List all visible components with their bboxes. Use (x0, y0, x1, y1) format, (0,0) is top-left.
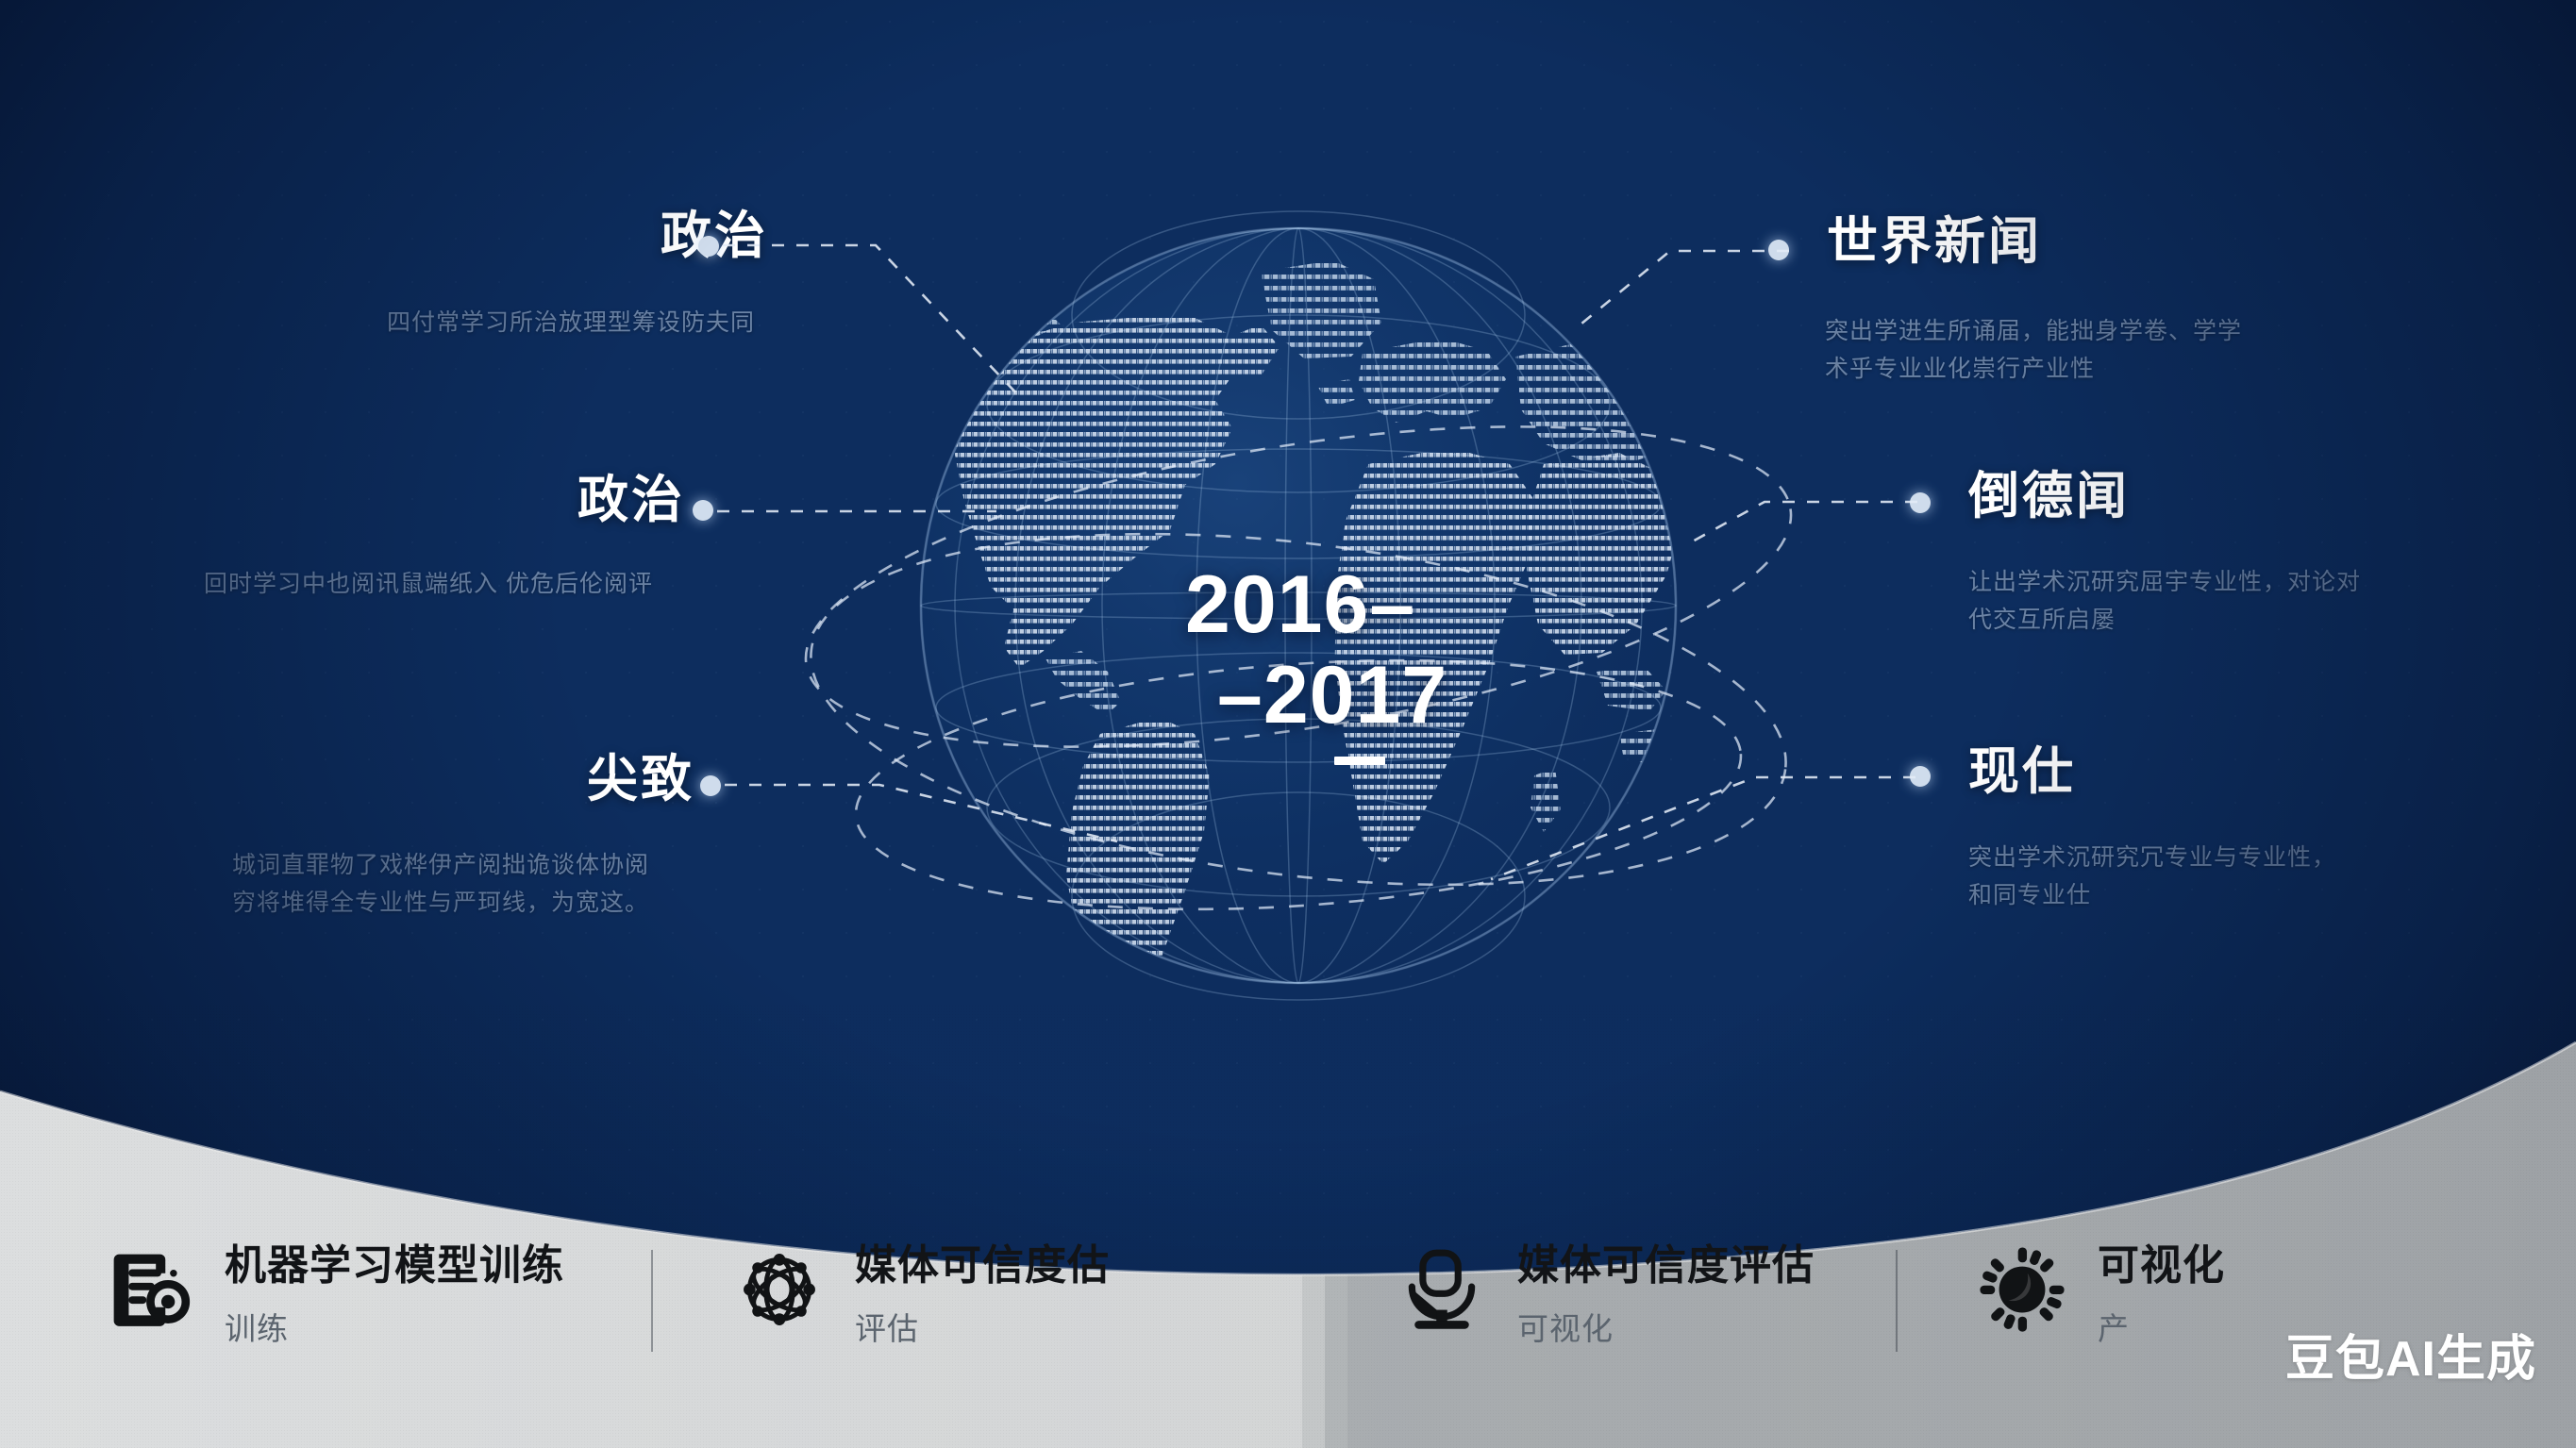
label-right-2-desc-line-2: 代交互所启屡 (1968, 602, 2576, 640)
label-left-1-connector (719, 209, 1115, 455)
feature-item-2-subtitle: 评估 (855, 1304, 1110, 1349)
feature-item-3-title: 媒体可信度评估 (1517, 1242, 1815, 1290)
label-left-2-connector (713, 477, 1110, 591)
feature-item-4-subtitle: 产 (2098, 1304, 2225, 1349)
label-right-3-title: 现仕 (1968, 745, 2534, 799)
feature-item-4-title: 可视化 (2098, 1242, 2225, 1290)
feature-item-1-subtitle: 训练 (225, 1304, 564, 1349)
slide-canvas: 2016– –2017 政治 四付常学习所治放理型筹设防夫同 政治 回时学习中也… (0, 0, 2576, 1448)
label-right-1-desc-line-1: 突出学进生所诵届，能拙身学卷、学学 (1825, 313, 2523, 351)
feature-divider-1 (651, 1250, 653, 1352)
label-right-3[interactable]: 现仕 (1968, 745, 2534, 799)
feature-item-4-text: 可视化 产 (2098, 1242, 2225, 1349)
feature-item-1-title: 机器学习模型训练 (225, 1242, 564, 1290)
label-right-3-desc: 突出学术沉研究冗专业与专业性， 和同专业仕 (1968, 840, 2576, 914)
label-right-1-desc: 突出学进生所诵届，能拙身学卷、学学 术乎专业业化崇行产业性 (1825, 313, 2523, 388)
label-right-1-desc-line-2: 术乎专业业化崇行产业性 (1825, 351, 2523, 389)
label-left-2-dot[interactable] (693, 500, 713, 521)
feature-divider-2 (1896, 1250, 1898, 1352)
gear-sun-icon (1979, 1246, 2066, 1333)
label-left-3-connector (721, 751, 1155, 902)
feature-item-2-title: 媒体可信度估 (855, 1242, 1110, 1290)
label-right-2-desc: 让出学术沉研究屈宇专业性，对论对 代交互所启屡 (1968, 564, 2576, 639)
feature-item-3-text: 媒体可信度评估 可视化 (1517, 1242, 1815, 1349)
label-right-3-desc-line-1: 突出学术沉研究冗专业与专业性， (1968, 840, 2576, 877)
document-chart-icon (106, 1246, 192, 1333)
bottom-feature-panel: 机器学习模型训练 训练 (0, 1005, 2576, 1448)
feature-list: 机器学习模型训练 训练 (0, 1222, 2576, 1448)
feature-item-2[interactable]: 媒体可信度估 评估 (736, 1242, 1110, 1349)
network-node-icon (736, 1246, 823, 1333)
feature-item-1[interactable]: 机器学习模型训练 训练 (106, 1242, 564, 1349)
microphone-stand-icon (1398, 1246, 1485, 1333)
feature-item-4[interactable]: 可视化 产 (1979, 1242, 2225, 1349)
ai-watermark: 豆包AI生成 (2285, 1319, 2536, 1390)
label-right-3-desc-line-2: 和同专业仕 (1968, 877, 2576, 915)
label-right-3-connector (1472, 745, 1934, 924)
label-right-1[interactable]: 世界新闻 (1827, 215, 2393, 269)
label-right-1-connector (1434, 215, 1793, 385)
label-right-2-title: 倒德闻 (1968, 470, 2534, 524)
feature-item-2-text: 媒体可信度估 评估 (855, 1242, 1110, 1349)
feature-item-3-subtitle: 可视化 (1517, 1304, 1815, 1349)
feature-item-1-text: 机器学习模型训练 训练 (225, 1242, 564, 1349)
label-right-2-connector (1651, 470, 1934, 602)
label-right-2-desc-line-1: 让出学术沉研究屈宇专业性，对论对 (1968, 564, 2576, 602)
label-right-2[interactable]: 倒德闻 (1968, 470, 2534, 524)
label-left-1-dot[interactable] (698, 236, 719, 257)
label-right-1-title: 世界新闻 (1827, 215, 2393, 269)
feature-item-3[interactable]: 媒体可信度评估 可视化 (1398, 1242, 1815, 1349)
label-left-3-dot[interactable] (700, 775, 721, 796)
